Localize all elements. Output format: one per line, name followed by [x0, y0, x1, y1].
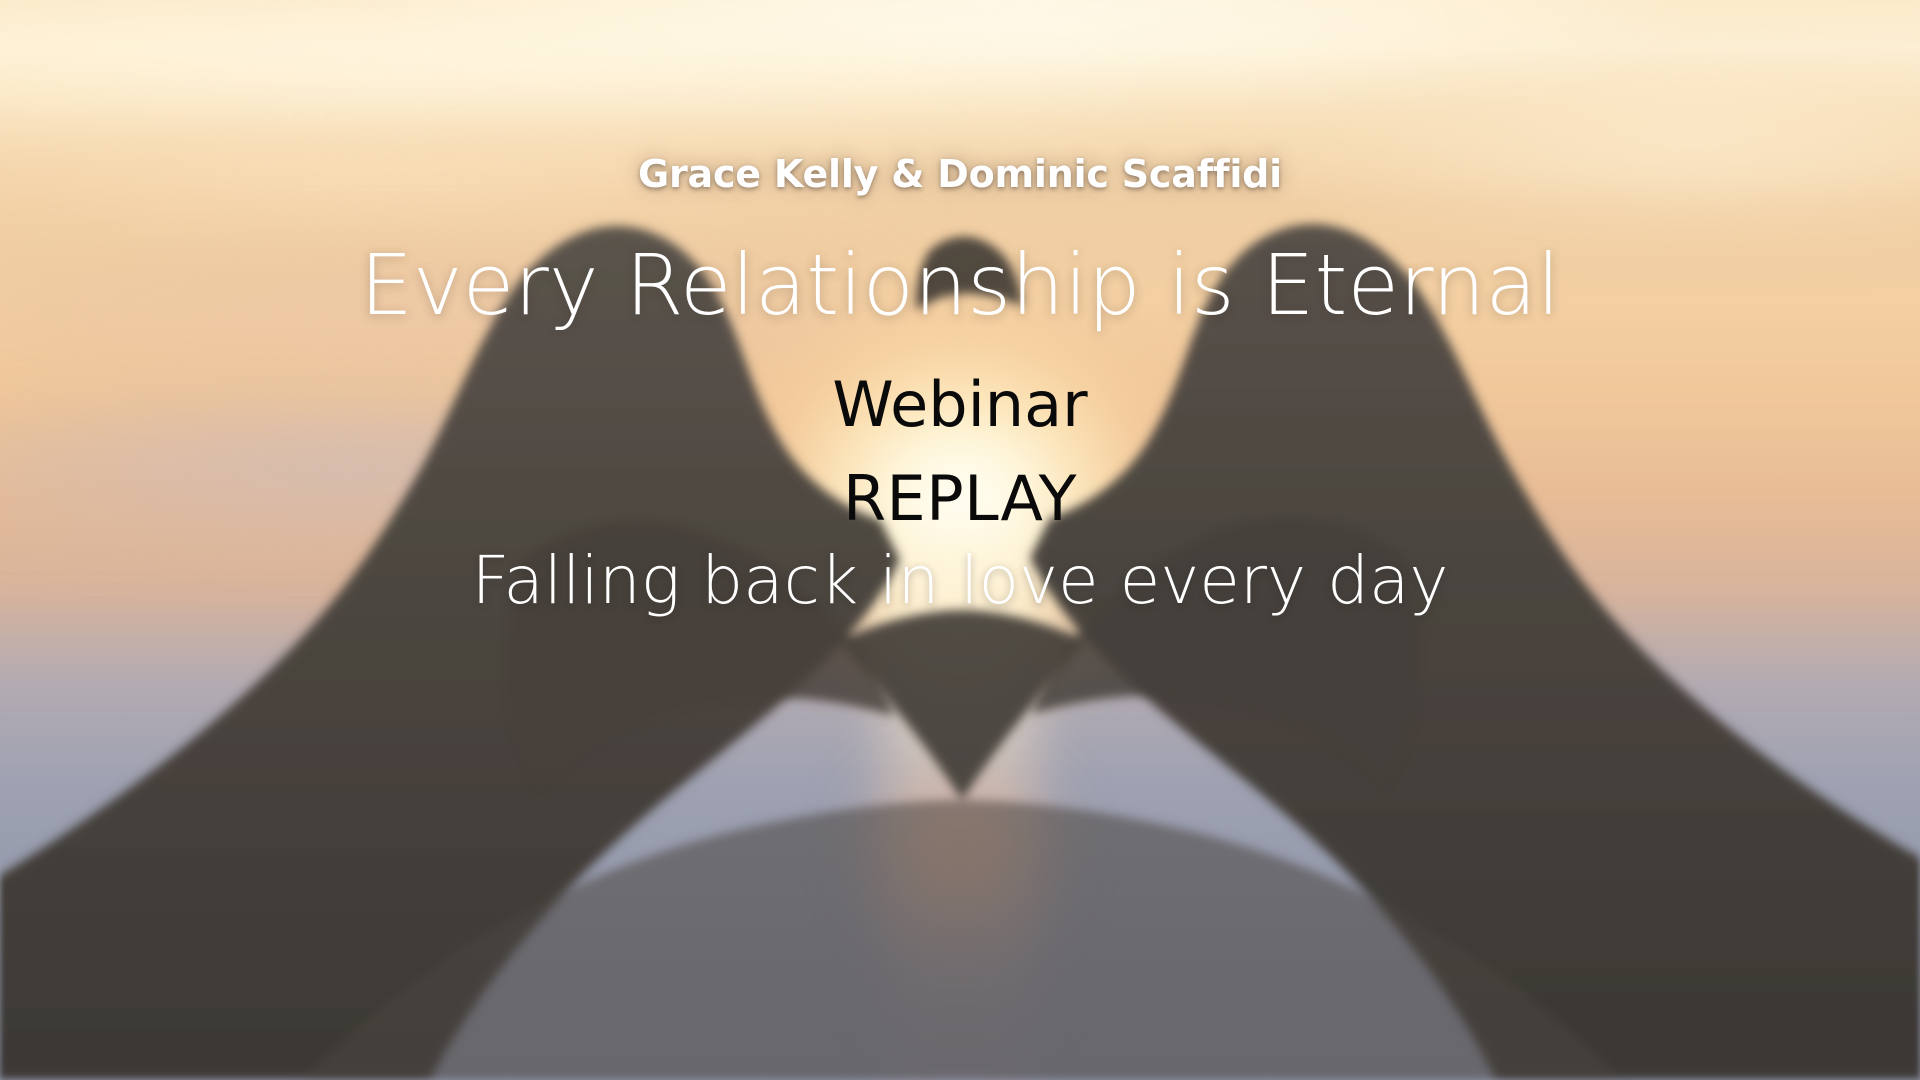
hands-heart-silhouette	[0, 0, 1920, 1080]
webinar-replay-slide: Grace Kelly & Dominic Scaffidi Every Rel…	[0, 0, 1920, 1080]
